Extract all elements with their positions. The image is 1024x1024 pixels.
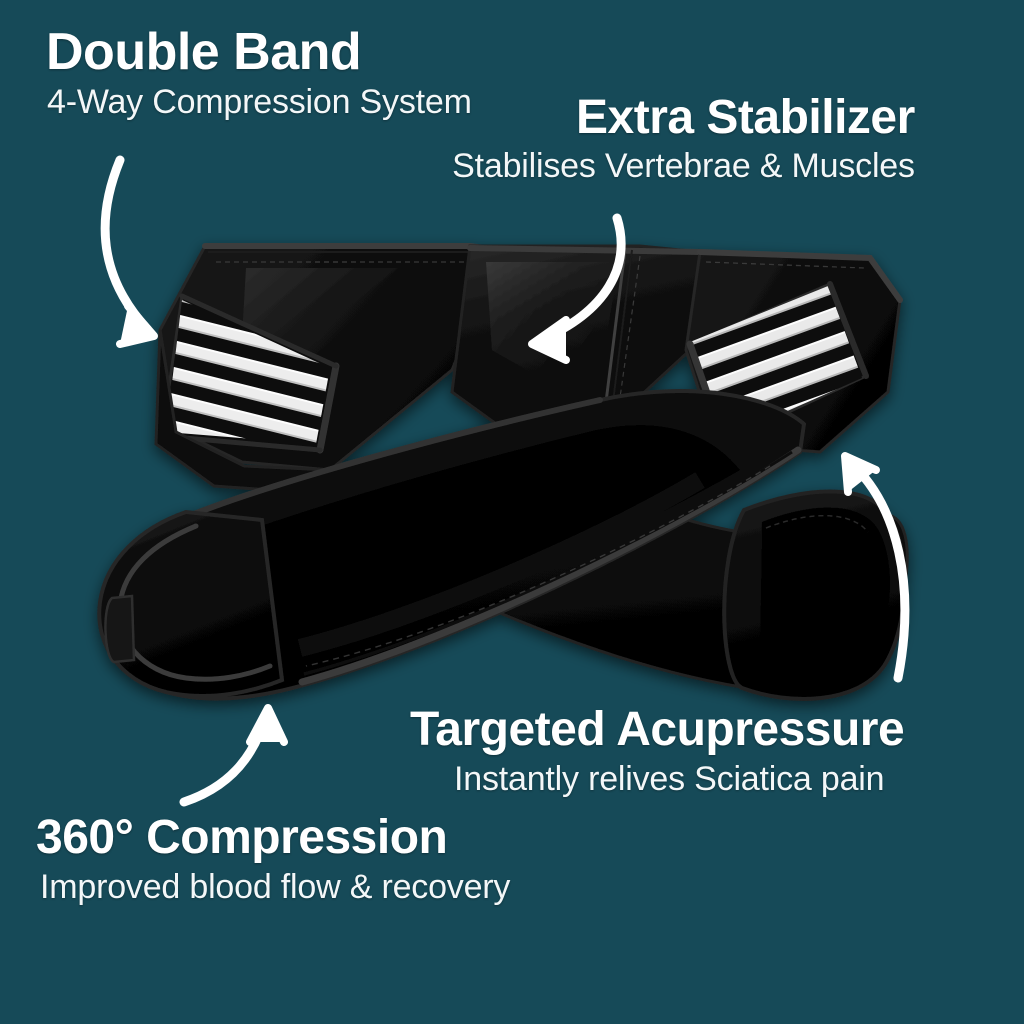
infographic-canvas: Double Band 4-Way Compression System Ext… bbox=[0, 0, 1024, 1024]
callout-double-band-subline: 4-Way Compression System bbox=[47, 82, 472, 122]
callout-360-compression: 360° Compression Improved blood flow & r… bbox=[36, 812, 510, 907]
callout-360-compression-subline: Improved blood flow & recovery bbox=[40, 867, 510, 907]
callout-targeted-acupressure-headline: Targeted Acupressure bbox=[410, 704, 904, 756]
belt-pull-tab bbox=[105, 596, 134, 662]
callout-extra-stabilizer: Extra Stabilizer Stabilises Vertebrae & … bbox=[576, 92, 915, 186]
callout-targeted-acupressure: Targeted Acupressure Instantly relives S… bbox=[410, 704, 904, 799]
callout-double-band: Double Band 4-Way Compression System bbox=[46, 24, 472, 122]
callout-360-compression-headline: 360° Compression bbox=[36, 812, 510, 864]
callout-extra-stabilizer-headline: Extra Stabilizer bbox=[576, 92, 915, 144]
belt-strap-back-end bbox=[724, 492, 904, 699]
callout-double-band-headline: Double Band bbox=[46, 24, 472, 80]
callout-extra-stabilizer-subline: Stabilises Vertebrae & Muscles bbox=[404, 146, 915, 186]
callout-targeted-acupressure-subline: Instantly relives Sciatica pain bbox=[454, 759, 904, 799]
